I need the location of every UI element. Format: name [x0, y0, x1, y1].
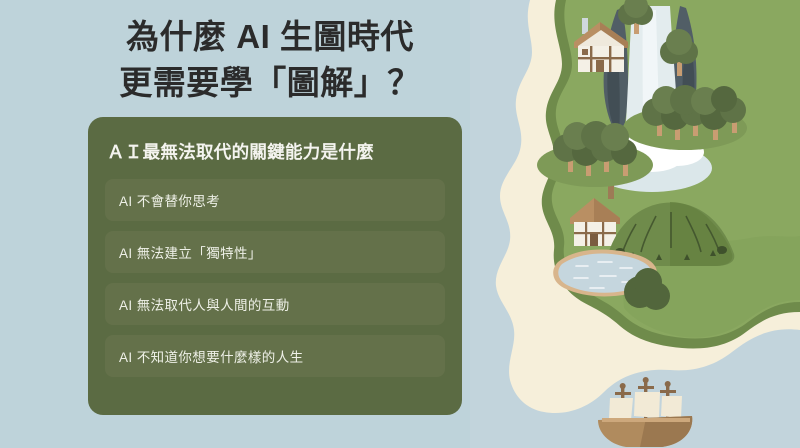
- cottage-south-chimney: [608, 185, 614, 199]
- lone-tree-east-leaf-c: [666, 29, 692, 55]
- lone-tree-east-trunk: [677, 62, 682, 76]
- list-item-label: AI 無法建立「獨特性」: [119, 242, 262, 262]
- cottage-south-timber-v2: [602, 222, 604, 246]
- list-item-label: AI 不會替你思考: [119, 190, 220, 210]
- cottage-north-window: [582, 49, 588, 55]
- key-abilities-card: ＡＩ最無法取代的關鍵能力是什麼 AI 不會替你思考 AI 無法建立「獨特性」 A…: [88, 117, 462, 415]
- list-item[interactable]: AI 不知道你想要什麼樣的人生: [105, 335, 445, 377]
- cottage-south-door: [590, 234, 598, 246]
- cottage-south-timber-v1: [585, 222, 587, 246]
- forest-east-canopy-9: [711, 86, 737, 112]
- ship-deck-rail: [602, 418, 690, 422]
- page-title: 為什麼 AI 生圖時代 更需要學「圖解」？: [60, 14, 480, 105]
- title-line-2: 更需要學「圖解」？: [60, 60, 480, 106]
- card-item-list: AI 不會替你思考 AI 無法建立「獨特性」 AI 無法取代人與人間的互動 AI…: [105, 179, 445, 377]
- list-item-label: AI 不知道你想要什麼樣的人生: [119, 346, 304, 366]
- card-header: ＡＩ最無法取代的關鍵能力是什麼: [105, 131, 445, 177]
- title-line-1: 為什麼 AI 生圖時代: [60, 14, 480, 60]
- cottage-south-timber-h: [574, 232, 616, 234]
- cottage-north-timber-v2: [609, 46, 611, 72]
- cottage-north-timber-h: [578, 57, 624, 59]
- cottage-north-door: [596, 60, 604, 72]
- slide-canvas: 為什麼 AI 生圖時代 更需要學「圖解」？ ＡＩ最無法取代的關鍵能力是什麼 AI…: [0, 0, 800, 448]
- cottage-north-chimney: [582, 18, 588, 34]
- map-illustration: [470, 0, 800, 448]
- forest-west-canopy-7: [601, 123, 629, 151]
- list-item-label: AI 無法取代人與人間的互動: [119, 294, 290, 314]
- list-item[interactable]: AI 無法取代人與人間的互動: [105, 283, 445, 325]
- list-item[interactable]: AI 不會替你思考: [105, 179, 445, 221]
- list-item[interactable]: AI 無法建立「獨特性」: [105, 231, 445, 273]
- cottage-north-timber-v1: [590, 46, 592, 72]
